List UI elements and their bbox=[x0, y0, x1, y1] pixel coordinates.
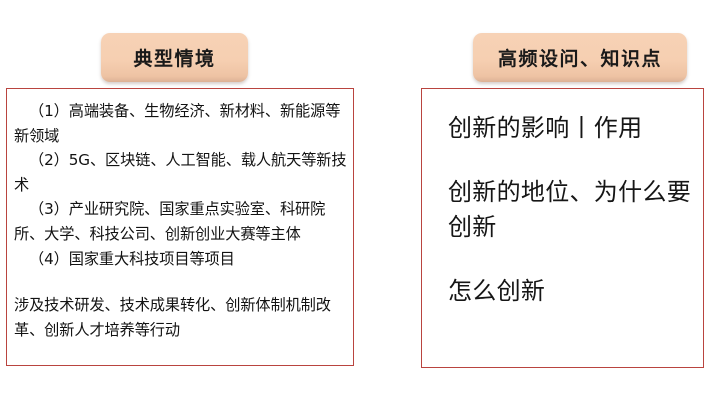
left-list-item-3: （3）产业研究院、国家重点实验室、科研院所、大学、科技公司、创新创业大赛等主体 bbox=[14, 197, 347, 246]
right-column-header-label: 高频设问、知识点 bbox=[498, 44, 662, 71]
left-text-spacer bbox=[14, 271, 347, 293]
slide-canvas: 典型情境 高频设问、知识点 （1）高端装备、生物经济、新材料、新能源等新领域 （… bbox=[0, 0, 720, 405]
left-content-text: （1）高端装备、生物经济、新材料、新能源等新领域 （2）5G、区块链、人工智能、… bbox=[14, 99, 347, 342]
left-list-item-1: （1）高端装备、生物经济、新材料、新能源等新领域 bbox=[14, 99, 347, 148]
right-column-header-pill: 高频设问、知识点 bbox=[473, 33, 687, 82]
left-summary-text: 涉及技术研发、技术成果转化、创新体制机制改革、创新人才培养等行动 bbox=[14, 293, 347, 342]
right-question-3: 怎么创新 bbox=[448, 274, 693, 309]
left-list-item-4: （4）国家重大科技项目等项目 bbox=[14, 247, 347, 272]
left-list-item-2: （2）5G、区块链、人工智能、载人航天等新技术 bbox=[14, 148, 347, 197]
right-question-1: 创新的影响丨作用 bbox=[448, 111, 693, 146]
right-question-2: 创新的地位、为什么要创新 bbox=[448, 175, 693, 245]
left-column-header-label: 典型情境 bbox=[133, 44, 215, 71]
left-content-box: （1）高端装备、生物经济、新材料、新能源等新领域 （2）5G、区块链、人工智能、… bbox=[6, 88, 354, 366]
left-column-header-pill: 典型情境 bbox=[101, 33, 248, 82]
right-content-box: 创新的影响丨作用 创新的地位、为什么要创新 怎么创新 bbox=[421, 88, 704, 368]
right-content-text: 创新的影响丨作用 创新的地位、为什么要创新 怎么创新 bbox=[448, 111, 693, 309]
